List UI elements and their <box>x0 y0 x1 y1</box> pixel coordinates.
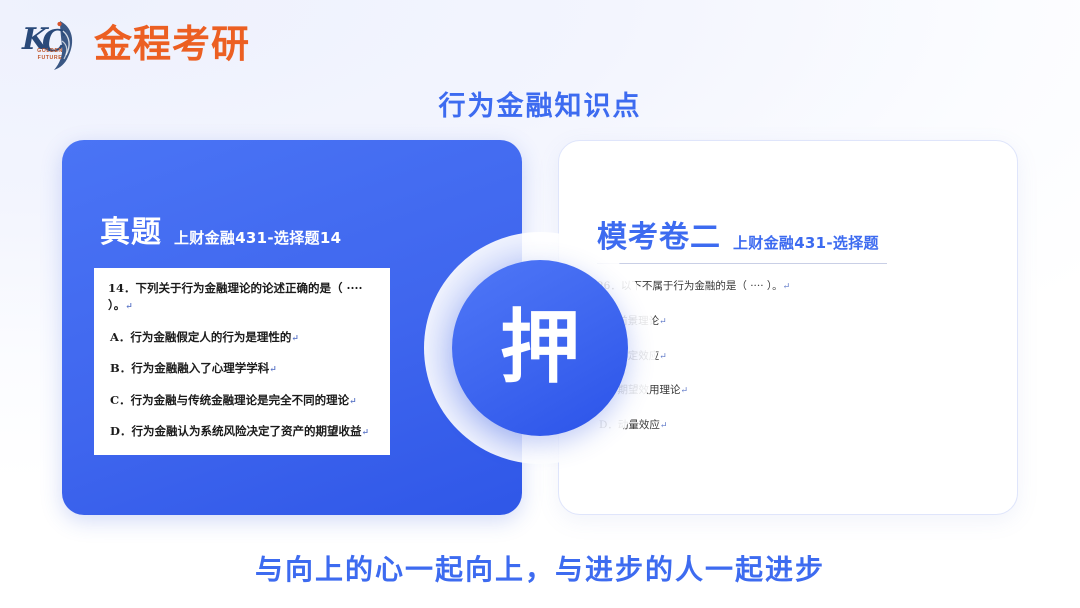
right-question-option-d: D．动量效应↵ <box>597 418 897 434</box>
paragraph-mark-icon: ↵ <box>681 386 689 396</box>
left-question-option-c: C．行为金融与传统金融理论是完全不同的理论↵ <box>108 392 376 410</box>
page-title: 行为金融知识点 <box>0 84 1080 123</box>
slide-canvas: K C GOLDEN FUTURE 金程考研 行为金融知识点 真题 上财金融43… <box>0 0 1080 608</box>
left-question-option-d: D．行为金融认为系统风险决定了资产的期望收益↵ <box>108 423 376 441</box>
left-panel-heading: 真题 <box>100 218 162 248</box>
brand-logo: K C GOLDEN FUTURE 金程考研 <box>16 14 250 74</box>
right-panel-subheading: 上财金融431-选择题 <box>733 236 879 253</box>
left-question-stem: 14．下列关于行为金融理论的论述正确的是（ ···· ）。↵ <box>108 280 376 315</box>
paragraph-mark-icon: ↵ <box>361 428 369 438</box>
left-question-option-a: A．行为金融假定人的行为是理性的↵ <box>108 329 376 347</box>
right-panel-header: 模考卷二 上财金融431-选择题 <box>597 223 879 253</box>
paragraph-mark-icon: ↵ <box>660 421 668 431</box>
left-question-option-b: B．行为金融融入了心理学学科↵ <box>108 360 376 378</box>
monogram-subtext: GOLDEN FUTURE <box>27 48 73 62</box>
right-panel-heading: 模考卷二 <box>597 223 721 253</box>
paragraph-mark-icon: ↵ <box>349 397 357 407</box>
center-badge-label: 押 <box>500 308 580 388</box>
kc-monogram-icon: K C GOLDEN FUTURE <box>16 15 88 73</box>
center-badge: 押 <box>452 260 628 436</box>
right-panel-divider <box>597 263 887 264</box>
footer-slogan: 与向上的心一起向上，与进步的人一起进步 <box>0 548 1080 588</box>
paragraph-mark-icon: ↵ <box>659 352 667 362</box>
paragraph-mark-icon: ↵ <box>659 317 667 327</box>
left-question-card: 14．下列关于行为金融理论的论述正确的是（ ···· ）。↵ A．行为金融假定人… <box>94 268 390 455</box>
paragraph-mark-icon: ↵ <box>783 282 791 292</box>
paragraph-mark-icon: ↵ <box>125 302 133 312</box>
paragraph-mark-icon: ↵ <box>291 334 299 344</box>
left-panel-subheading: 上财金融431-选择题14 <box>174 231 341 248</box>
brand-name: 金程考研 <box>94 25 250 63</box>
paragraph-mark-icon: ↵ <box>269 365 277 375</box>
left-panel-header: 真题 上财金融431-选择题14 <box>100 218 341 248</box>
